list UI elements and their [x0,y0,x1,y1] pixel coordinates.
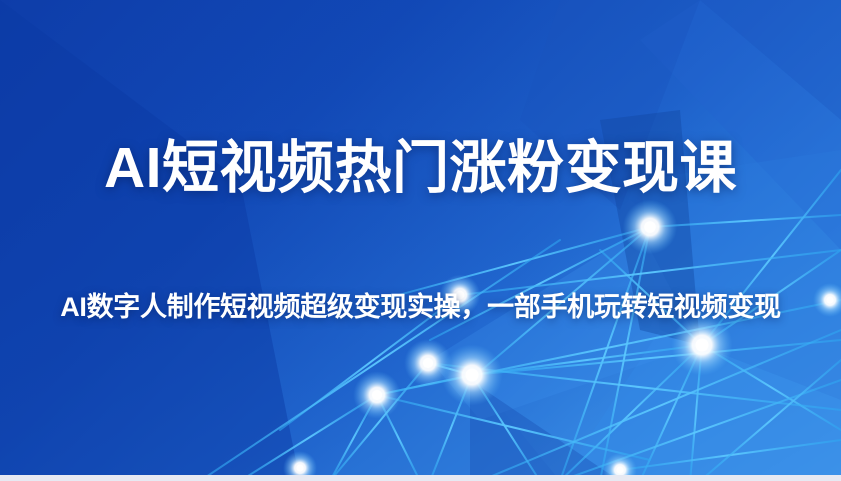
node-left-bottom [372,390,382,400]
background-graphic [0,0,841,481]
node-right-upper [644,221,656,233]
node-right-lower [696,339,709,352]
node-center-bottom [466,369,479,382]
node-bottom-edge [296,464,303,471]
node-bottom-right-edge [616,466,623,473]
node-center-upper [423,358,433,368]
node-subtitle-glow [456,291,465,300]
course-cover-banner: AI短视频热门涨粉变现课 AI数字人制作短视频超级变现实操，一部手机玩转短视频变… [0,0,841,481]
node-far-right-edge [826,296,833,303]
bottom-divider-strip [0,475,841,481]
